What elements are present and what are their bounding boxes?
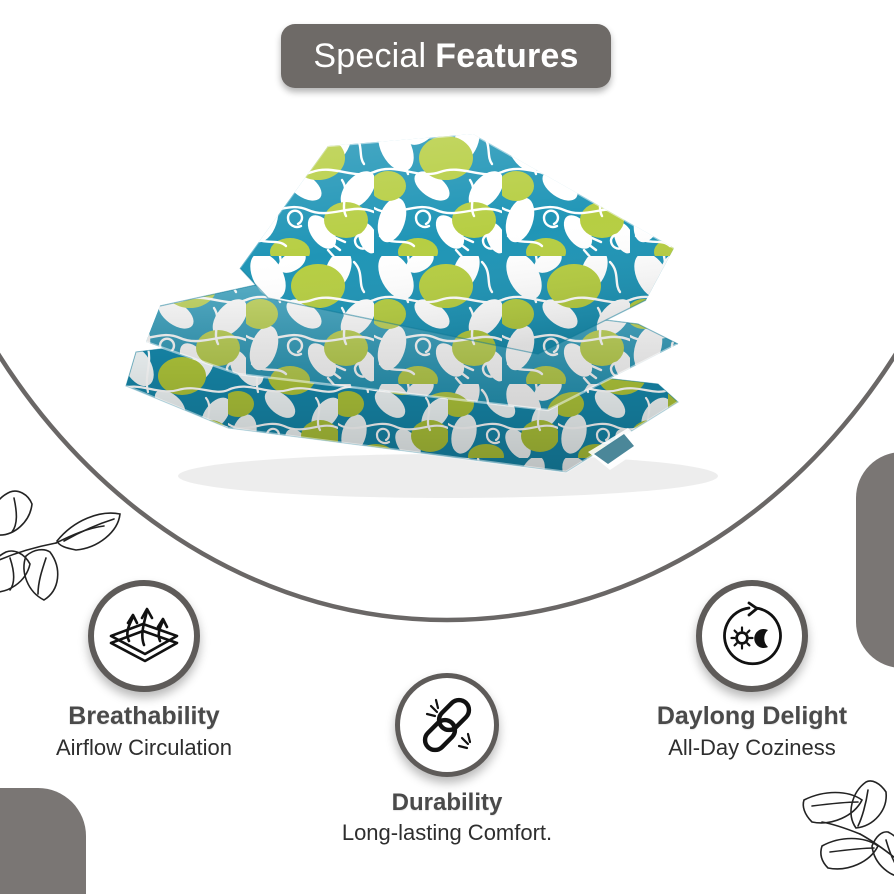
chain-link-icon	[395, 673, 499, 777]
feature-subtitle: Long-lasting Comfort.	[342, 820, 552, 845]
feature-title: Durability	[392, 790, 503, 816]
fabric-layers-airflow-icon	[88, 580, 200, 692]
corner-blob-bottom-left	[0, 788, 86, 894]
leaf-sprig-bottom-right	[803, 781, 894, 892]
feature-graphic-canvas: Special Features	[0, 0, 894, 894]
feature-subtitle: All-Day Coziness	[668, 735, 836, 760]
feature-title: Breathability	[68, 703, 219, 731]
product-shadow	[178, 454, 718, 498]
special-features-banner: Special Features	[281, 24, 611, 88]
product-image-folded-bedsheets	[118, 128, 798, 528]
banner-title-bold: Features	[435, 37, 578, 76]
feature-daylong-delight: Daylong Delight All-Day Coziness	[602, 580, 894, 760]
banner-title-light: Special	[313, 37, 426, 76]
feature-title: Daylong Delight	[657, 703, 847, 731]
feature-subtitle: Airflow Circulation	[56, 735, 232, 760]
day-night-cycle-icon	[696, 580, 808, 692]
feature-durability: Durability Long-lasting Comfort.	[297, 673, 597, 846]
feature-breathability: Breathability Airflow Circulation	[0, 580, 294, 760]
